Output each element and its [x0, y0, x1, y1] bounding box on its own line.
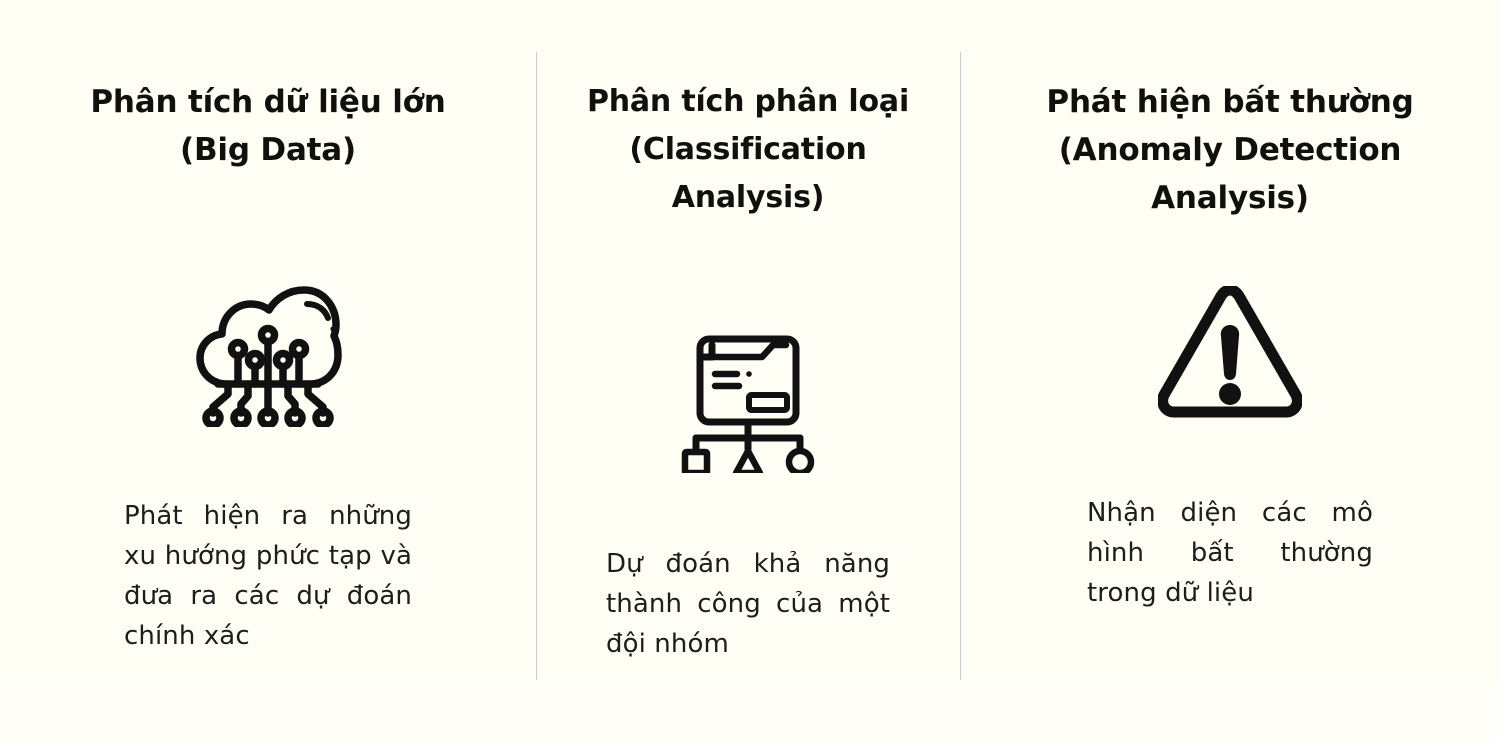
column-anomaly-detection: Phát hiện bất thường (Anomaly Detection …	[960, 0, 1500, 682]
columns-container: Phân tích dữ liệu lớn (Big Data)	[0, 0, 1500, 682]
slide: Phân tích dữ liệu lớn (Big Data)	[0, 0, 1500, 741]
folder-classification-tree-icon	[560, 328, 936, 478]
warning-triangle-icon	[994, 277, 1466, 427]
column-classification-analysis: Phân tích phân loại (Classification Anal…	[536, 0, 960, 682]
slide-footer-background	[0, 682, 1500, 741]
column-body-anomaly-detection: Nhận diện các mô hình bất thường trong d…	[1087, 493, 1373, 613]
column-title-big-data: Phân tích dữ liệu lớn (Big Data)	[90, 0, 445, 174]
column-body-classification-analysis: Dự đoán khả năng thành công của một đội …	[606, 544, 890, 664]
column-big-data: Phân tích dữ liệu lớn (Big Data)	[0, 0, 536, 682]
column-title-anomaly-detection: Phát hiện bất thường (Anomaly Detection …	[994, 0, 1466, 222]
column-title-classification-analysis: Phân tích phân loại (Classification Anal…	[560, 0, 936, 222]
cloud-network-icon	[38, 280, 498, 430]
column-body-big-data: Phát hiện ra những xu hướng phức tạp và …	[124, 496, 412, 656]
